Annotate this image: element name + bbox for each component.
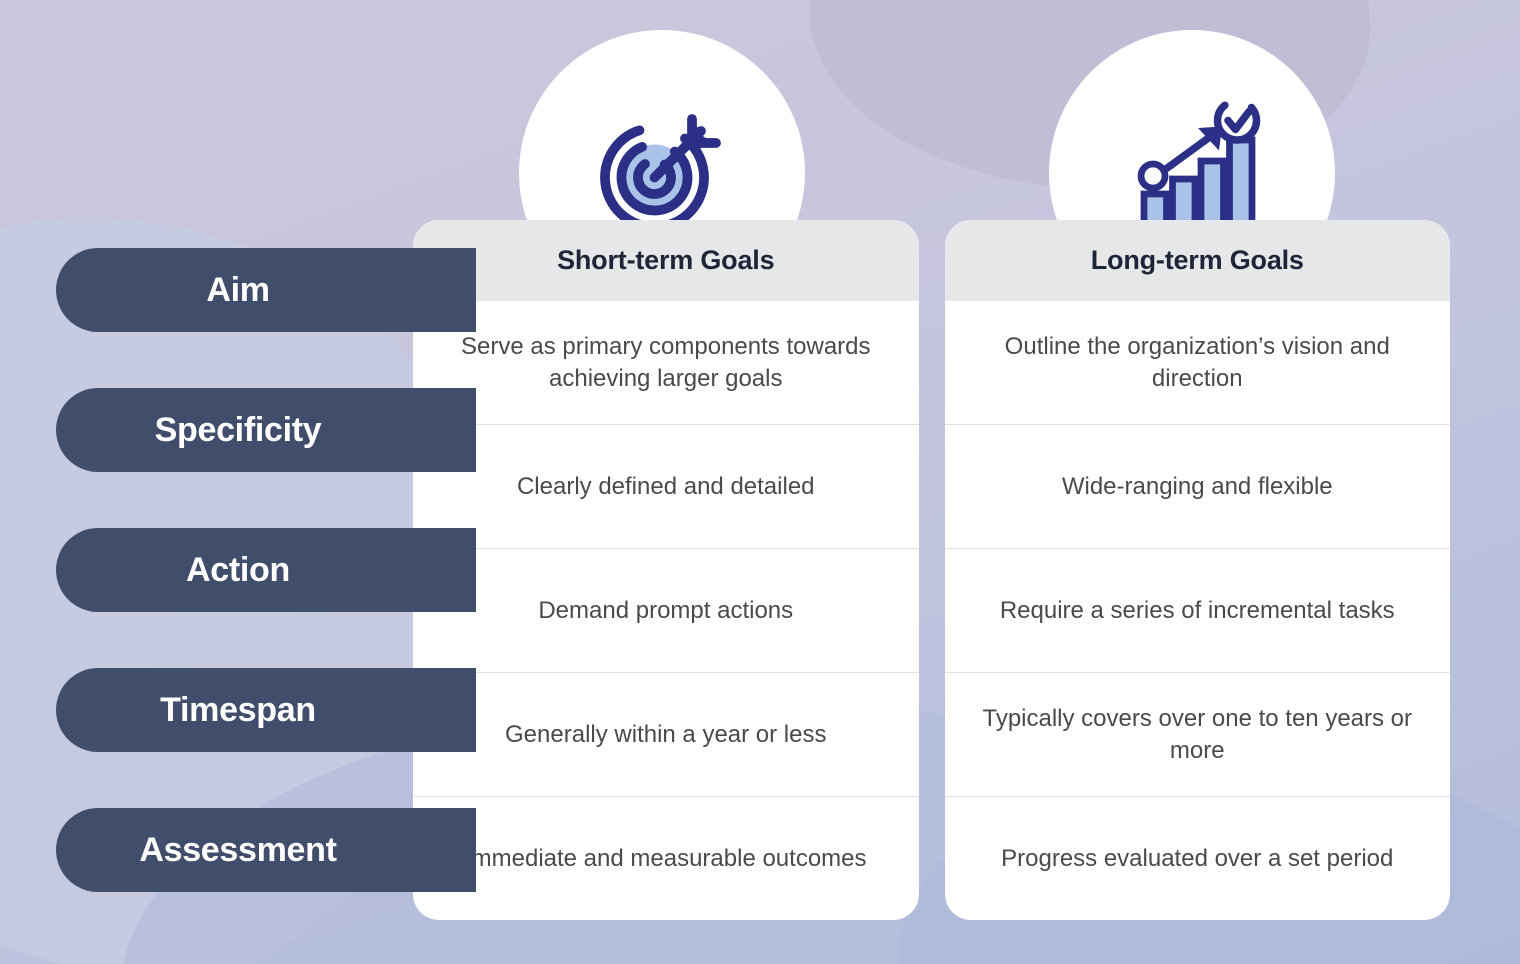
table-cell-long-action: Require a series of incremental tasks xyxy=(945,549,1451,673)
row-label-slot-timespan: Timespan xyxy=(56,640,476,780)
row-label-timespan: Timespan xyxy=(56,668,476,752)
table-cell-short-aim: Serve as primary components towards achi… xyxy=(413,301,919,425)
table-cell-long-assessment: Progress evaluated over a set period xyxy=(945,797,1451,920)
cell-text: Clearly defined and detailed xyxy=(517,471,815,503)
row-label-slot-aim: Aim xyxy=(56,220,476,360)
cell-text: Wide-ranging and flexible xyxy=(1062,471,1333,503)
row-label-assessment: Assessment xyxy=(56,808,476,892)
table-cell-long-timespan: Typically covers over one to ten years o… xyxy=(945,673,1451,797)
table-cell-short-specificity: Clearly defined and detailed xyxy=(413,425,919,549)
column-title: Long-term Goals xyxy=(1091,245,1304,276)
column-body-short-term: Serve as primary components towards achi… xyxy=(413,301,919,920)
row-label-slot-specificity: Specificity xyxy=(56,360,476,500)
column-body-long-term: Outline the organization’s vision and di… xyxy=(945,301,1451,920)
column-long-term: Long-term Goals Outline the organization… xyxy=(945,220,1451,920)
row-label-text: Assessment xyxy=(139,831,336,870)
column-title: Short-term Goals xyxy=(557,245,774,276)
row-label-list: Aim Specificity Action Timespan Assessme… xyxy=(56,220,476,920)
row-label-aim: Aim xyxy=(56,248,476,332)
row-label-slot-action: Action xyxy=(56,500,476,640)
row-label-slot-assessment: Assessment xyxy=(56,780,476,920)
cell-text: Generally within a year or less xyxy=(505,719,826,751)
row-label-text: Action xyxy=(186,551,290,590)
comparison-table: Short-term Goals Serve as primary compon… xyxy=(413,220,1450,920)
column-header-long-term: Long-term Goals xyxy=(945,220,1451,301)
table-cell-short-timespan: Generally within a year or less xyxy=(413,673,919,797)
cell-text: Immediate and measurable outcomes xyxy=(465,843,867,875)
cell-text: Demand prompt actions xyxy=(538,595,793,627)
row-label-text: Specificity xyxy=(155,411,322,450)
row-label-specificity: Specificity xyxy=(56,388,476,472)
cell-text: Typically covers over one to ten years o… xyxy=(979,703,1417,767)
row-label-text: Aim xyxy=(206,271,269,310)
cell-text: Serve as primary components towards achi… xyxy=(447,331,885,395)
table-cell-short-action: Demand prompt actions xyxy=(413,549,919,673)
table-cell-short-assessment: Immediate and measurable outcomes xyxy=(413,797,919,920)
table-cell-long-aim: Outline the organization’s vision and di… xyxy=(945,301,1451,425)
column-short-term: Short-term Goals Serve as primary compon… xyxy=(413,220,919,920)
row-label-action: Action xyxy=(56,528,476,612)
column-header-short-term: Short-term Goals xyxy=(413,220,919,301)
cell-text: Progress evaluated over a set period xyxy=(1001,843,1393,875)
row-label-text: Timespan xyxy=(160,691,316,730)
table-cell-long-specificity: Wide-ranging and flexible xyxy=(945,425,1451,549)
cell-text: Require a series of incremental tasks xyxy=(1000,595,1395,627)
cell-text: Outline the organization’s vision and di… xyxy=(979,331,1417,395)
